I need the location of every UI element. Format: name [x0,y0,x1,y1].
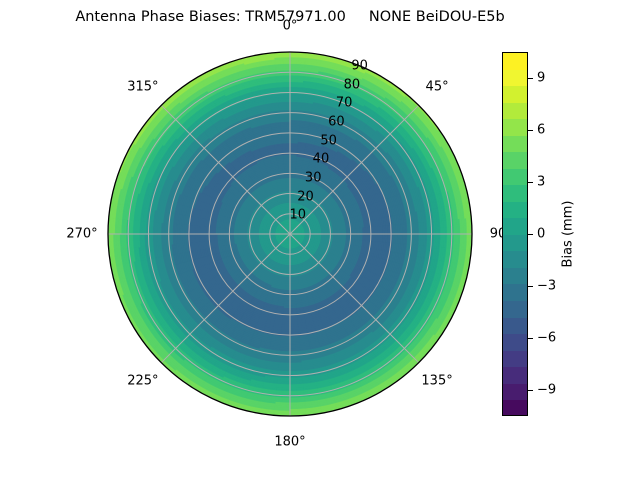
figure-canvas: Antenna Phase Biases: TRM57971.00 NONE B… [0,0,640,480]
colorbar-band [503,318,527,335]
colorbar-tick-label: 0 [537,227,545,242]
colorbar-tick [528,234,533,235]
polar-plot-area: 0°45°90135°180°225°270°315°1020304050607… [0,0,520,480]
colorbar-band [503,103,527,120]
radial-tick-label-30: 30 [305,170,322,185]
angular-tick-label-225: 225° [127,374,158,389]
radial-tick-label-60: 60 [328,114,345,129]
colorbar-tick [528,286,533,287]
colorbar-band [503,53,527,70]
colorbar-band [503,119,527,136]
colorbar-tick-label: −9 [537,383,556,398]
radial-tick-label-50: 50 [320,133,337,148]
colorbar-tick-label: 9 [537,71,545,86]
colorbar-band [503,218,527,235]
colorbar-band [503,185,527,202]
radial-tick-label-20: 20 [297,189,314,204]
colorbar-band [503,70,527,87]
colorbar-tick [528,78,533,79]
angular-tick-label-45: 45° [426,79,449,94]
colorbar-band [503,384,527,401]
colorbar-band [503,301,527,318]
polar-grid [108,52,472,416]
colorbar-tick-label: −3 [537,279,556,294]
colorbar-tick-label: 3 [537,175,545,190]
colorbar-band [503,251,527,268]
colorbar-tick-label: −6 [537,331,556,346]
angular-tick-label-135: 135° [421,374,452,389]
angular-tick-label-270: 270° [66,227,97,242]
colorbar-band [503,334,527,351]
colorbar-band [503,202,527,219]
colorbar-tick [528,338,533,339]
colorbar-band [503,284,527,301]
angular-tick-label-0: 0° [283,19,298,34]
colorbar-tick [528,390,533,391]
colorbar: Bias (mm) 9630−3−6−9 [502,52,622,422]
radial-tick-label-70: 70 [336,96,353,111]
colorbar-band [503,152,527,169]
colorbar-axis-label: Bias (mm) [561,201,576,268]
radial-tick-label-90: 90 [351,58,368,73]
radial-tick-label-10: 10 [289,208,306,223]
colorbar-tick-label: 6 [537,123,545,138]
colorbar-tick [528,130,533,131]
colorbar-band [503,136,527,153]
radial-tick-label-40: 40 [313,152,330,167]
angular-tick-label-315: 315° [127,79,158,94]
colorbar-band [503,268,527,285]
colorbar-gradient [502,52,528,416]
colorbar-band [503,351,527,368]
angular-tick-label-180: 180° [274,435,305,450]
colorbar-band [503,235,527,252]
colorbar-band [503,400,527,416]
colorbar-band [503,86,527,103]
radial-tick-label-80: 80 [344,77,361,92]
colorbar-band [503,169,527,186]
colorbar-band [503,367,527,384]
colorbar-tick [528,182,533,183]
